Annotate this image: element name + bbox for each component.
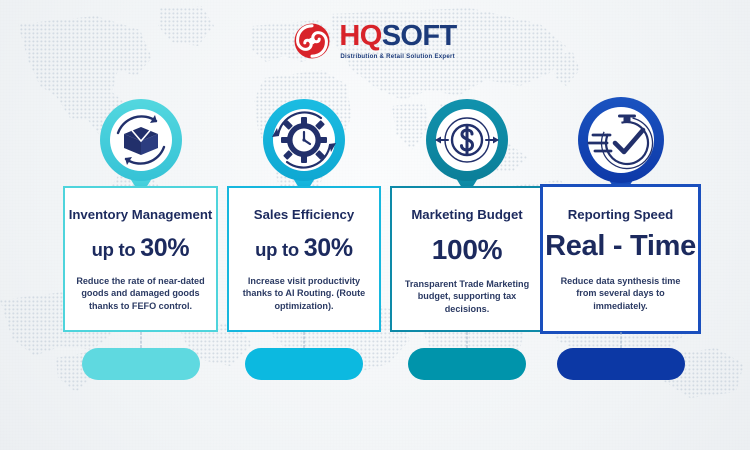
feature-column-inventory-management: Inventory Management up to 30% Reduce th… <box>63 0 218 450</box>
icon-pin-1 <box>98 97 184 196</box>
accent-pill-3 <box>408 348 526 380</box>
feature-metric-value-1: 30% <box>140 234 189 262</box>
feature-card-4: Reporting Speed Real - Time Reduce data … <box>540 184 701 334</box>
brand-tagline: Distribution & Retail Solution Expert <box>340 53 455 60</box>
connector-line-3 <box>467 332 468 348</box>
feature-title-3: Marketing Budget <box>411 208 522 223</box>
feature-metric-prefix-1: up to <box>92 239 141 260</box>
brand-logo: HQSOFT Distribution & Retail Solution Ex… <box>0 18 750 64</box>
box-rotation-icon <box>98 97 184 196</box>
hqsoft-swirl-logo-icon <box>293 22 331 60</box>
feature-metric-2: up to 30% <box>255 236 353 261</box>
feature-column-marketing-budget: Marketing Budget 100% Transparent Trade … <box>390 0 544 450</box>
infographic-canvas: HQSOFT Distribution & Retail Solution Ex… <box>0 0 750 450</box>
brand-wordmark: HQSOFT <box>339 22 456 51</box>
feature-title-2: Sales Efficiency <box>254 208 354 223</box>
feature-card-3: Marketing Budget 100% Transparent Trade … <box>390 186 544 332</box>
feature-metric-value-4: Real - Time <box>545 230 696 262</box>
gear-clock-icon <box>261 97 347 196</box>
accent-pill-2 <box>245 348 363 380</box>
feature-metric-1: up to 30% <box>92 236 190 261</box>
connector-line-4 <box>620 332 621 348</box>
feature-description-2: Increase visit productivity thanks to AI… <box>238 275 370 314</box>
connector-line-2 <box>304 332 305 348</box>
feature-card-1: Inventory Management up to 30% Reduce th… <box>63 186 218 332</box>
feature-metric-value-2: 30% <box>304 234 353 262</box>
brand-name-part1: HQ <box>339 20 381 52</box>
feature-title-1: Inventory Management <box>69 208 213 223</box>
feature-description-1: Reduce the rate of near-dated goods and … <box>74 275 207 314</box>
feature-metric-value-3: 100% <box>432 234 502 265</box>
feature-description-3: Transparent Trade Marketing budget, supp… <box>401 278 533 317</box>
feature-description-4: Reduce data synthesis time from several … <box>552 275 689 314</box>
feature-metric-4: Real - Time <box>545 232 696 261</box>
icon-pin-3 <box>424 97 510 196</box>
connector-line-1 <box>140 332 141 348</box>
accent-pill-1 <box>82 348 200 380</box>
accent-pill-4 <box>557 348 685 380</box>
feature-metric-prefix-2: up to <box>255 239 304 260</box>
icon-pin-2 <box>261 97 347 196</box>
feature-column-reporting-speed: Reporting Speed Real - Time Reduce data … <box>540 0 701 450</box>
brand-name-part2: SOFT <box>382 20 457 52</box>
dollar-exchange-icon <box>424 97 510 196</box>
feature-column-sales-efficiency: Sales Efficiency up to 30% Increase visi… <box>227 0 381 450</box>
feature-title-4: Reporting Speed <box>568 208 674 223</box>
feature-columns: Inventory Management up to 30% Reduce th… <box>0 0 750 450</box>
feature-metric-3: 100% <box>432 236 502 264</box>
feature-card-2: Sales Efficiency up to 30% Increase visi… <box>227 186 381 332</box>
